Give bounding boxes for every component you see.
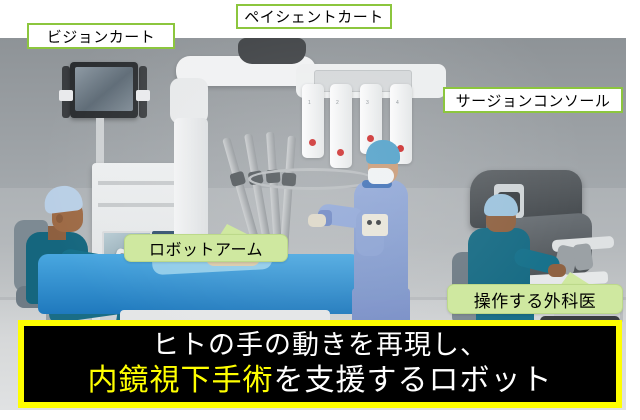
assistant-chair-seat (16, 286, 90, 308)
standing-surgeon-glove (308, 214, 326, 227)
assistant-chair-back (14, 220, 48, 292)
caption-line-2-rest: を支援するロボット (274, 364, 553, 397)
patient-cart-rail (314, 70, 412, 92)
standing-surgeon-collar (362, 180, 392, 188)
assistant-thigh (46, 284, 135, 324)
vision-cart-monitor (70, 62, 138, 118)
console-body (486, 212, 592, 279)
standing-surgeon-left-arm (317, 203, 365, 229)
assistant-ear (56, 214, 63, 223)
vision-cart-monitor-rail-left (62, 66, 70, 118)
wall-upper (0, 38, 626, 188)
standing-surgeon-head (368, 152, 398, 184)
master-controller-right (572, 243, 593, 271)
caption-highlight-term: 内鏡視下手術 (88, 364, 274, 397)
callout-surgeon-console[interactable]: サージョンコンソール (443, 87, 623, 113)
instrument-sterile-ring (248, 168, 374, 190)
robot-arm-1: 1 (302, 84, 324, 158)
callout-operating-surgeon[interactable]: 操作する外科医 (447, 284, 623, 314)
assistant-upper-arm (59, 248, 114, 277)
vision-cart-monitor-rail-right (139, 66, 147, 118)
monitor-clamp-right (136, 90, 150, 101)
callout-patient-cart[interactable]: ペイシェントカート (236, 4, 392, 29)
instrument-tray (362, 214, 388, 236)
robot-arm-2: 2 (330, 84, 352, 168)
patient-cart-elbow (170, 78, 208, 124)
patient-cart-crossbar (296, 64, 446, 98)
patient-cart-boom (176, 56, 316, 86)
callout-vision-cart[interactable]: ビジョンカート (27, 23, 175, 49)
assistant-forearm (96, 259, 133, 278)
monitor-clamp-left (59, 90, 73, 101)
operating-table-drape (38, 254, 368, 314)
patient-cart-column (174, 118, 208, 250)
assistant-neck (48, 226, 66, 240)
patient-cart-overhead-hub (238, 38, 306, 64)
vision-cart-pole (96, 118, 104, 168)
caption-banner: ヒトの手の動きを再現し、 内鏡視下手術を支援するロボット (18, 320, 622, 408)
robot-arm-3: 3 (360, 84, 382, 154)
console-surgeon-arm (513, 247, 562, 276)
standing-surgeon-right-arm (356, 210, 384, 256)
video-processor (100, 271, 180, 288)
light-source (100, 291, 180, 308)
caption-line-2: 内鏡視下手術を支援するロボット (88, 362, 553, 400)
standing-surgeon-cap (366, 140, 400, 164)
assistant-head (52, 198, 83, 232)
console-hood (470, 170, 582, 228)
assistant-torso-scrubs (26, 232, 88, 304)
assistant-surgical-cap (43, 184, 84, 214)
console-surgeon-cap (484, 194, 518, 216)
standing-surgeon-cuff (318, 210, 332, 226)
console-support-arm (552, 236, 615, 252)
standing-surgeon-mask (368, 168, 394, 184)
console-stereo-viewer (494, 184, 524, 218)
standing-surgeon-gown (354, 180, 408, 300)
callout-robot-arm[interactable]: ロボットアーム (124, 234, 288, 262)
console-surgeon-head (486, 206, 516, 232)
robot-arm-4: 4 (390, 84, 412, 164)
slide-canvas: 1 2 3 4 (0, 0, 640, 420)
caption-line-1: ヒトの手の動きを再現し、 (152, 328, 488, 363)
